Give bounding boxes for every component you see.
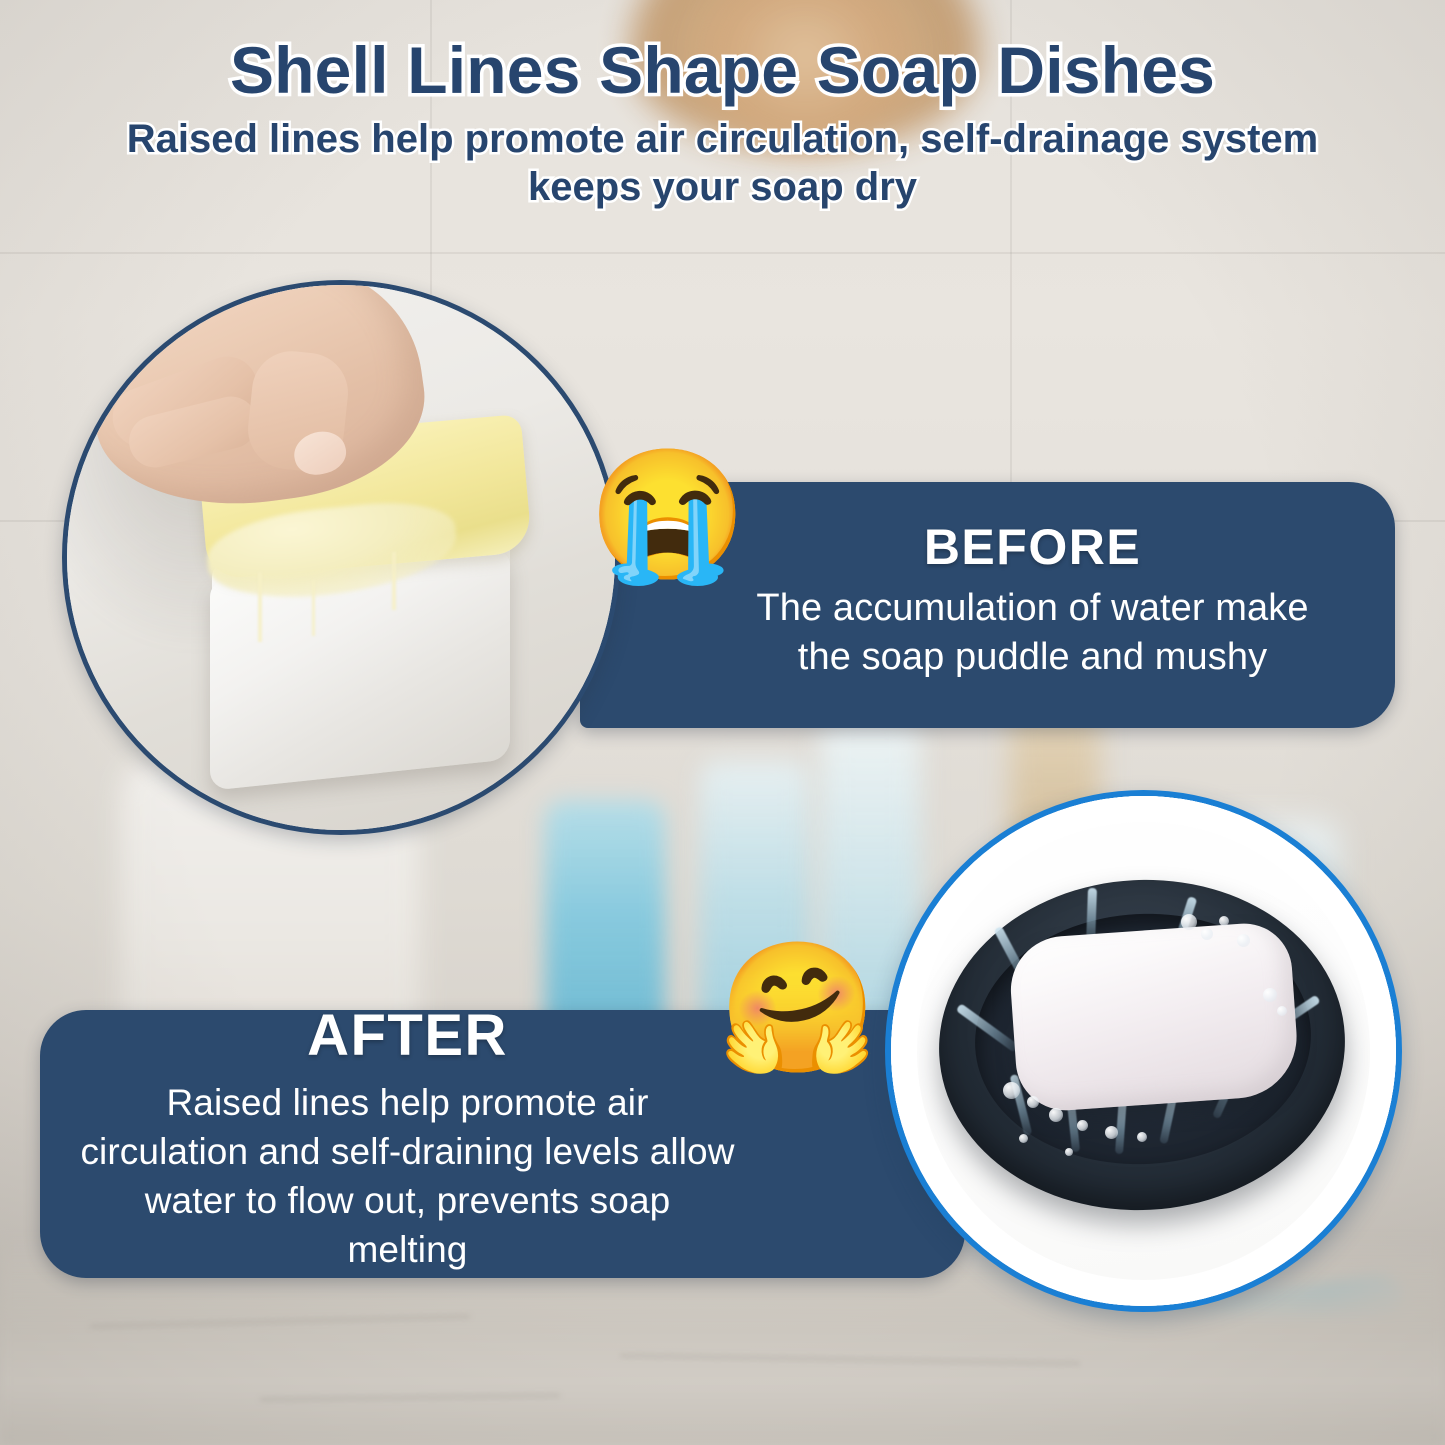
soap-drip <box>392 552 396 610</box>
before-heading: BEFORE <box>924 522 1141 572</box>
before-photo <box>62 280 620 835</box>
soap-drip <box>312 580 315 636</box>
before-body-text: The accumulation of water make the soap … <box>730 584 1335 683</box>
after-heading: AFTER <box>307 1007 508 1065</box>
after-photo-white-ring <box>891 796 1396 1306</box>
before-photo-scene <box>62 280 620 835</box>
soap-drip <box>258 572 262 642</box>
after-photo <box>885 790 1402 1312</box>
page-title: Shell Lines Shape Soap Dishes <box>0 0 1445 105</box>
loudly-crying-face-emoji: 😭 <box>588 452 747 580</box>
after-body-text: Raised lines help promote air circulatio… <box>80 1079 735 1274</box>
after-photo-scene <box>891 796 1396 1306</box>
header: Shell Lines Shape Soap Dishes Raised lin… <box>0 0 1445 212</box>
winking-face-pointing-hands-emoji: 🤗 <box>718 945 877 1073</box>
page-subtitle: Raised lines help promote air circulatio… <box>118 115 1328 213</box>
